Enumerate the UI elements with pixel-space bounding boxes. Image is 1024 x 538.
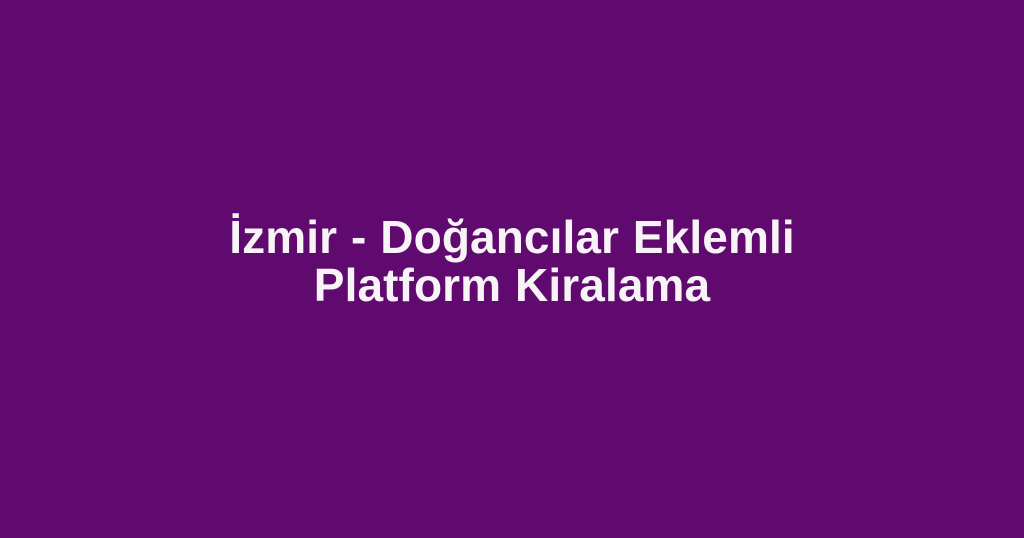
page-title: İzmir - Doğancılar Eklemli Platform Kira…	[144, 213, 880, 309]
preview-card: İzmir - Doğancılar Eklemli Platform Kira…	[0, 0, 1024, 538]
title-block: İzmir - Doğancılar Eklemli Platform Kira…	[128, 213, 896, 309]
